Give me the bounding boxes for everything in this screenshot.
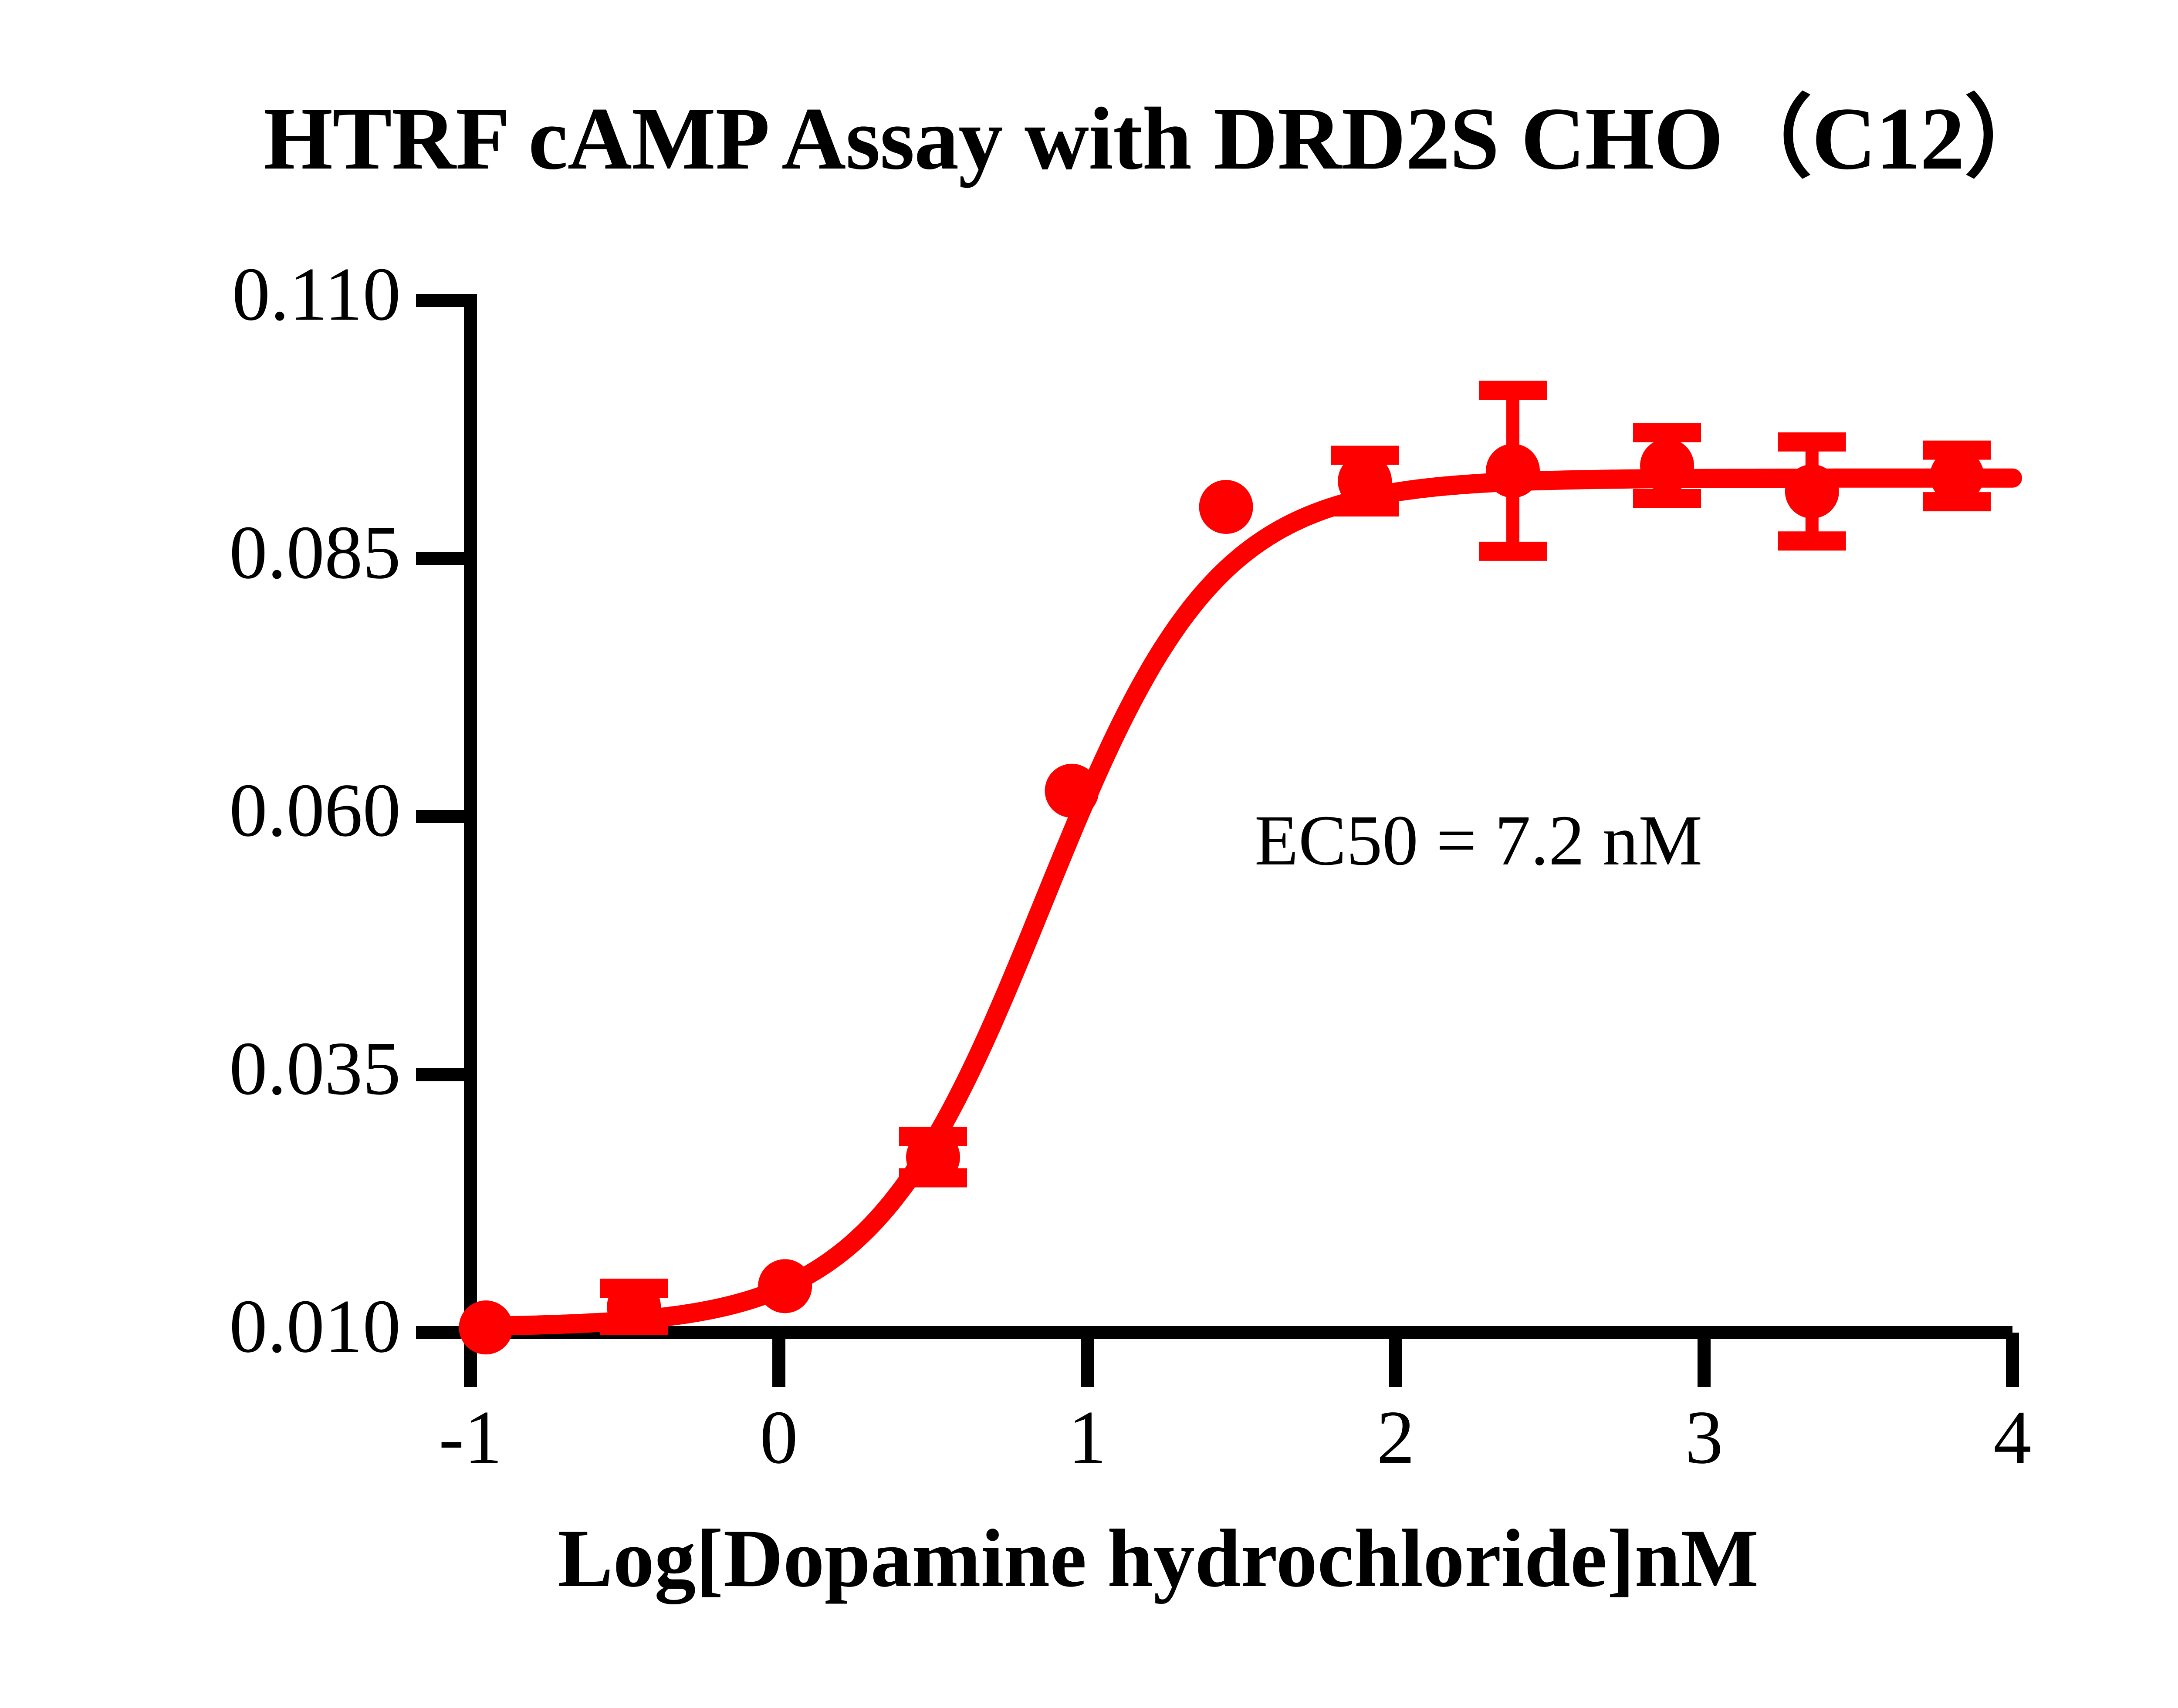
y-axis-ticks xyxy=(416,300,470,1333)
data-point-marker xyxy=(758,1259,812,1313)
data-point-marker xyxy=(1640,439,1694,493)
data-point-marker xyxy=(1045,764,1099,818)
chart-figure: HTRF cAMP Assay with DRD2S CHO（C12） HTRF… xyxy=(0,0,2178,1708)
data-point-marker xyxy=(906,1130,960,1184)
x-tick-label: 0 xyxy=(692,1394,866,1481)
x-tick-label: 4 xyxy=(1925,1394,2100,1481)
data-point-marker xyxy=(459,1300,513,1354)
data-point-marker xyxy=(1338,454,1392,508)
x-tick-label: 3 xyxy=(1617,1394,1791,1481)
data-point-marker xyxy=(1930,449,1984,503)
x-tick-label: -1 xyxy=(383,1394,558,1481)
data-point-marker xyxy=(1785,464,1839,518)
y-tick-label: 0.010 xyxy=(131,1283,401,1370)
x-axis-ticks xyxy=(470,1333,2012,1387)
y-tick-label: 0.035 xyxy=(131,1025,401,1112)
y-tick-label: 0.060 xyxy=(131,766,401,854)
y-tick-label: 0.110 xyxy=(131,250,401,338)
x-tick-label: 2 xyxy=(1309,1394,1483,1481)
ec50-annotation: EC50 = 7.2 nM xyxy=(1255,799,1702,882)
y-tick-label: 0.085 xyxy=(131,509,401,596)
data-point-marker xyxy=(607,1280,661,1334)
x-tick-label: 1 xyxy=(1000,1394,1174,1481)
data-point-marker xyxy=(1199,480,1253,534)
fit-curve-line xyxy=(470,478,2012,1327)
data-point-marker xyxy=(1486,444,1540,498)
